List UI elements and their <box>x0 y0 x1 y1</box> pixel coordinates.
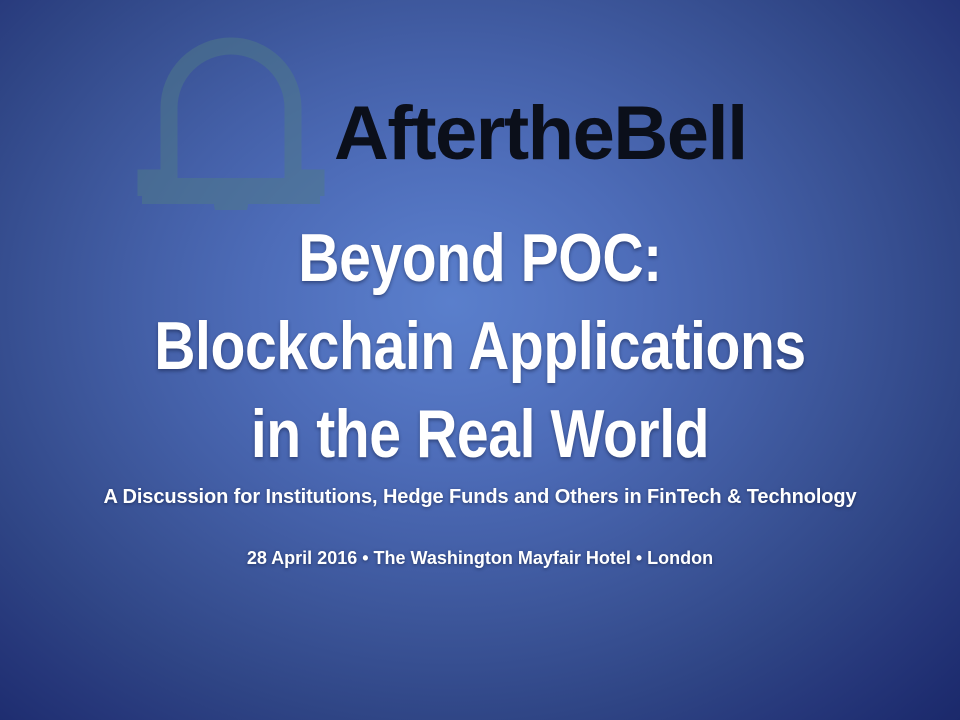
title-line-2: Blockchain Applications <box>77 302 883 390</box>
title-line-3: in the Real World <box>77 390 883 478</box>
presentation-slide: AftertheBell Beyond POC: Blockchain Appl… <box>0 0 960 720</box>
bell-icon <box>128 28 334 210</box>
logo-wordmark: AftertheBell <box>334 96 804 172</box>
brand-logo: AftertheBell <box>0 0 960 215</box>
subtitle: A Discussion for Institutions, Hedge Fun… <box>0 484 960 510</box>
page-title: Beyond POC: Blockchain Applications in t… <box>0 214 960 478</box>
title-line-1: Beyond POC: <box>77 214 883 302</box>
event-details: 28 April 2016 • The Washington Mayfair H… <box>0 546 960 570</box>
